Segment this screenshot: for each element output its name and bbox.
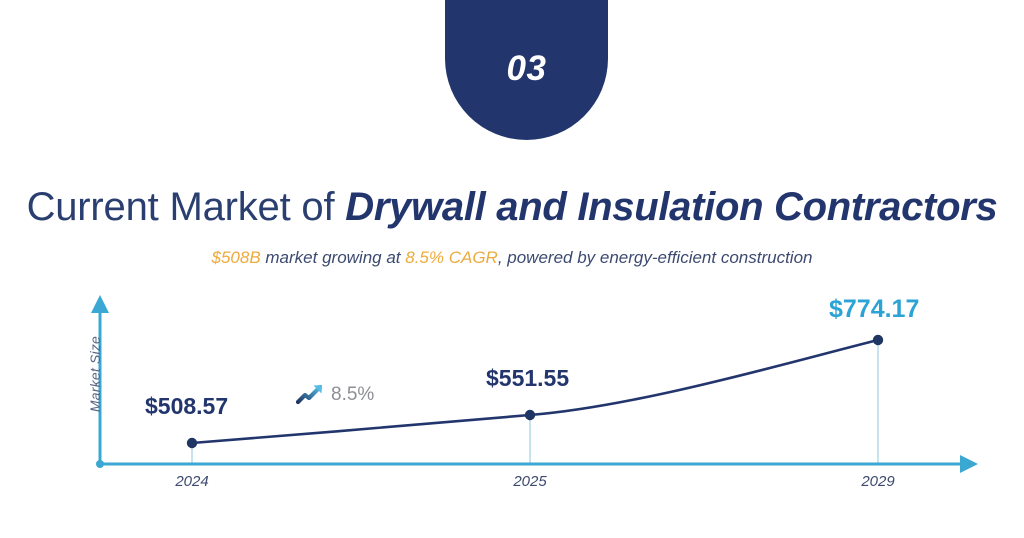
slide-number-badge: 03 [445, 0, 608, 140]
subtitle-cagr: 8.5% CAGR [405, 248, 498, 267]
data-label-2025: $551.55 [486, 367, 569, 390]
data-point-2024 [187, 438, 197, 448]
market-size-line [192, 340, 878, 443]
data-label-2024: $508.57 [145, 395, 228, 418]
data-point-2029 [873, 335, 883, 345]
slide-number-text: 03 [507, 51, 547, 86]
data-point-2025 [525, 410, 535, 420]
page-title-strong: Drywall and Insulation Contractors [345, 185, 997, 229]
subtitle-market-amount: $508B [212, 248, 261, 267]
page-subtitle: $508B market growing at 8.5% CAGR, power… [0, 247, 1024, 269]
subtitle-tail-text: , powered by energy-efficient constructi… [498, 248, 813, 267]
x-tick-2029: 2029 [838, 473, 918, 490]
cagr-annotation: 8.5% [296, 382, 374, 406]
data-label-2029: $774.17 [829, 297, 919, 322]
x-tick-2025: 2025 [490, 473, 570, 490]
page-title: Current Market of Drywall and Insulation… [0, 186, 1024, 228]
cagr-value-text: 8.5% [331, 385, 374, 404]
trending-up-icon [296, 382, 328, 406]
subtitle-mid-text: market growing at [261, 248, 406, 267]
page-title-light: Current Market of [27, 185, 346, 229]
market-size-line-chart: Market Size $508.57 $551.55 $774.17 8.5%… [0, 290, 1024, 538]
axis-origin-dot [96, 460, 104, 468]
y-axis-label: Market Size [87, 319, 103, 429]
slide-canvas: 03 Current Market of Drywall and Insulat… [0, 0, 1024, 538]
x-tick-2024: 2024 [152, 473, 232, 490]
